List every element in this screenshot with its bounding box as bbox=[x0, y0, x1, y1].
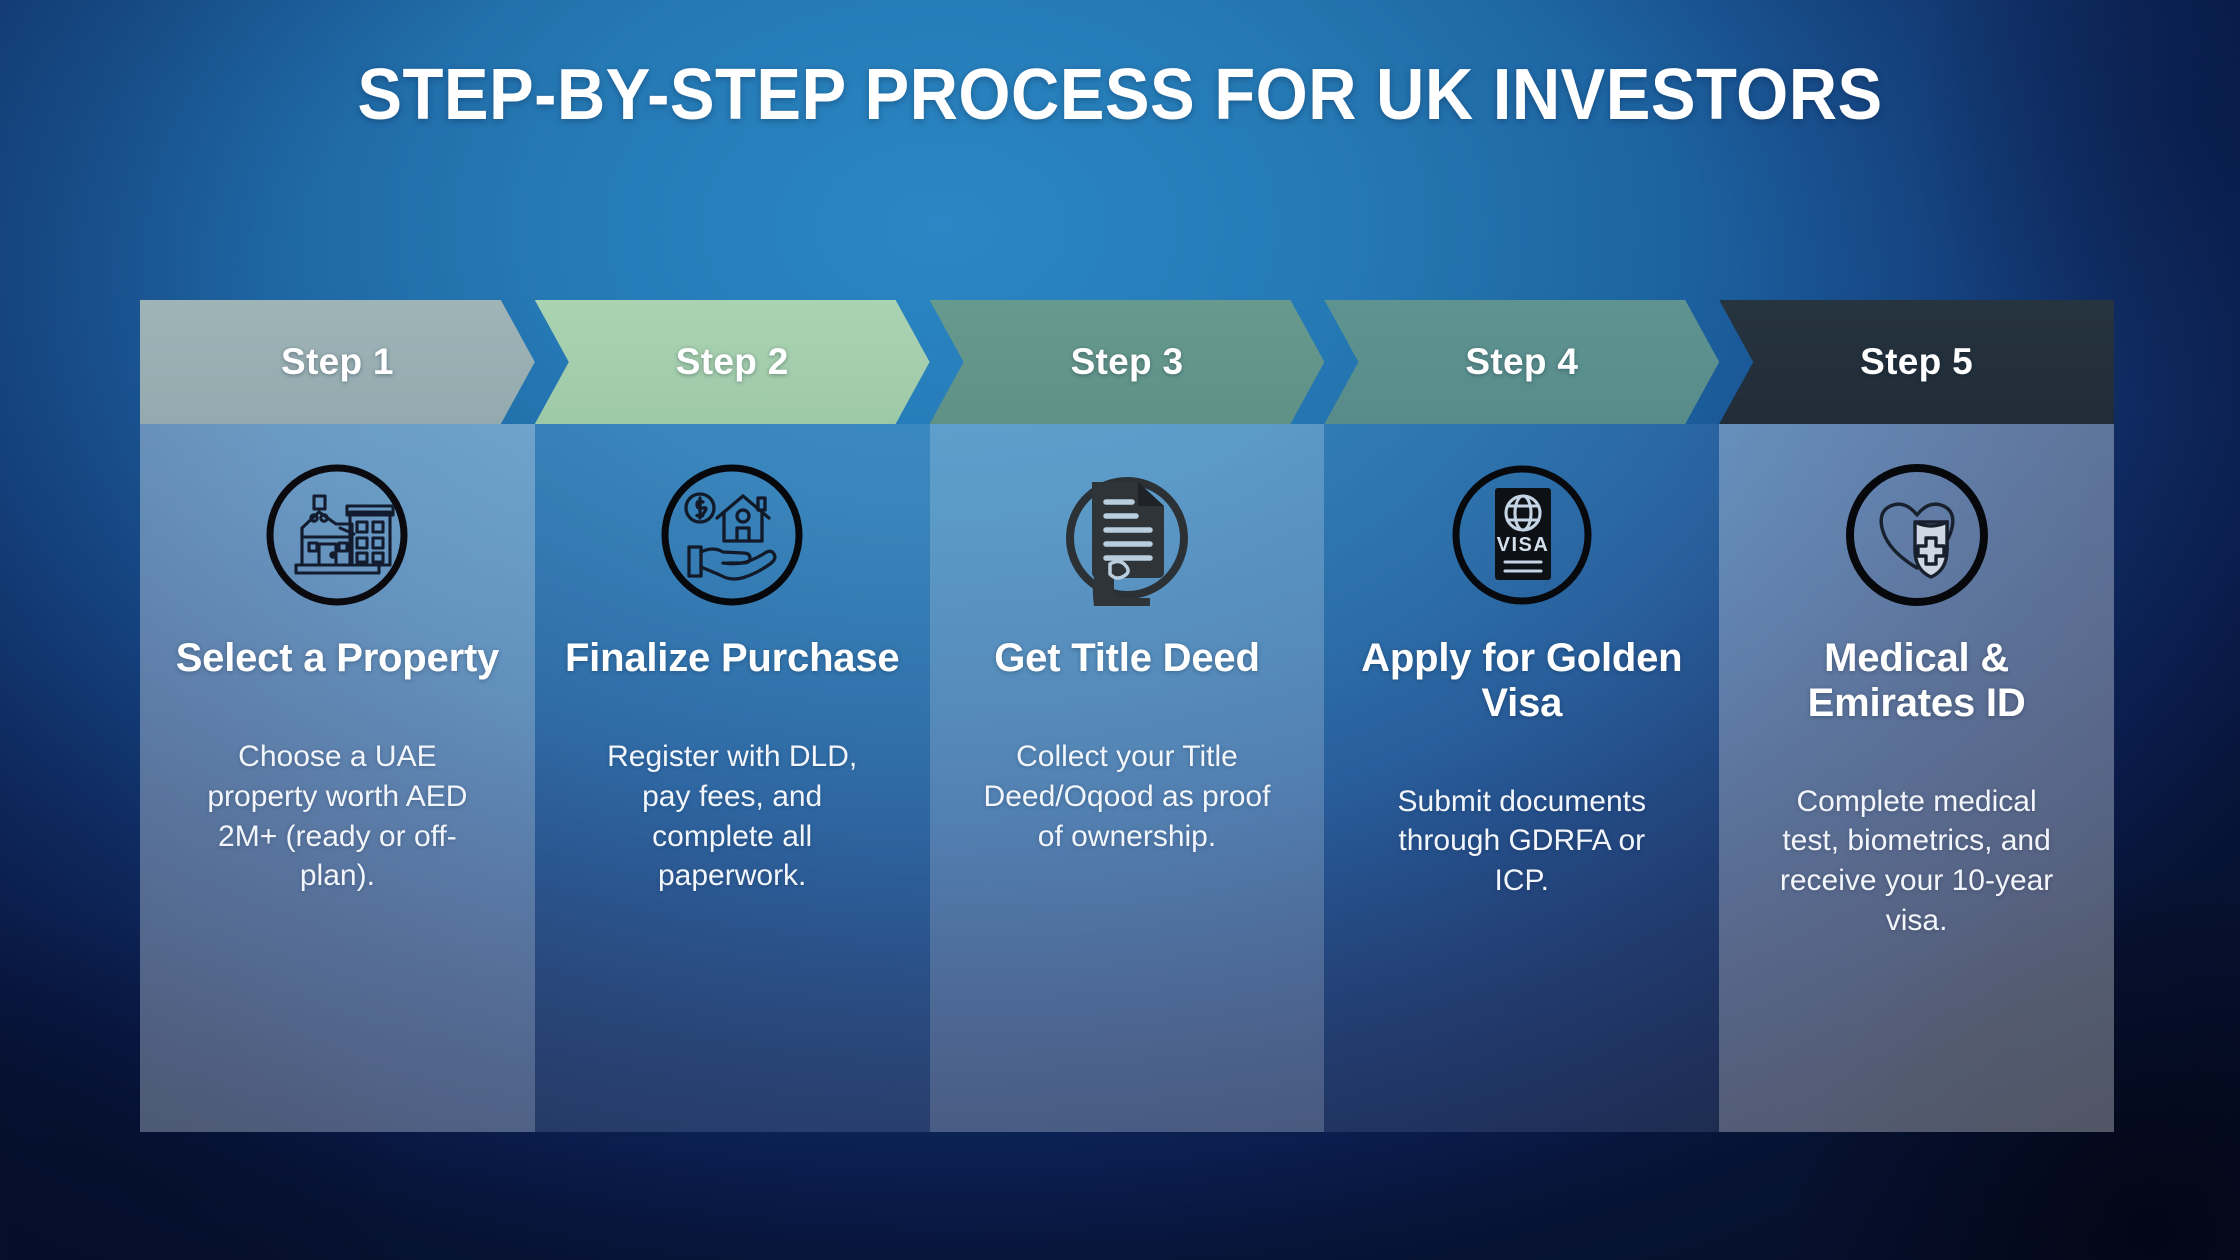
step-body-4: Submit documents through GDRFA or ICP. bbox=[1372, 782, 1672, 902]
hand-holding-house-money-icon bbox=[657, 460, 807, 610]
process-steps-board: Step 1 bbox=[140, 300, 2114, 1132]
step-panel-2: Finalize Purchase Register with DLD, pay… bbox=[535, 424, 930, 1132]
step-title-5: Medical & Emirates ID bbox=[1741, 636, 2092, 726]
step-panel-3: Get Title Deed Collect your Title Deed/O… bbox=[930, 424, 1325, 1132]
step-body-2: Register with DLD, pay fees, and complet… bbox=[582, 737, 882, 897]
step-panel-5: Medical & Emirates ID Complete medical t… bbox=[1719, 424, 2114, 1132]
step-badge-3: Step 3 bbox=[930, 300, 1325, 424]
step-badge-label: Step 1 bbox=[281, 341, 394, 383]
step-badge-label: Step 3 bbox=[1071, 341, 1184, 383]
step-badge-label: Step 2 bbox=[676, 341, 789, 383]
svg-text:VISA: VISA bbox=[1496, 534, 1549, 556]
step-badge-4: Step 4 bbox=[1324, 300, 1719, 424]
step-column-1[interactable]: Step 1 bbox=[140, 300, 535, 1132]
step-body-5: Complete medical test, biometrics, and r… bbox=[1767, 782, 2067, 942]
step-body-3: Collect your Title Deed/Oqood as proof o… bbox=[977, 737, 1277, 857]
step-title-3: Get Title Deed bbox=[994, 636, 1259, 681]
step-title-4: Apply for Golden Visa bbox=[1346, 636, 1697, 726]
step-panel-4: VISA Apply for Golden Visa Submit docume… bbox=[1324, 424, 1719, 1132]
heart-medical-shield-icon bbox=[1842, 460, 1992, 610]
step-panel-1: Select a Property Choose a UAE property … bbox=[140, 424, 535, 1132]
step-column-4[interactable]: Step 4 VISA bbox=[1324, 300, 1719, 1132]
step-title-1: Select a Property bbox=[176, 636, 499, 681]
step-body-1: Choose a UAE property worth AED 2M+ (rea… bbox=[187, 737, 487, 897]
step-badge-2: Step 2 bbox=[535, 300, 930, 424]
step-badge-1: Step 1 bbox=[140, 300, 535, 424]
hand-holding-document-icon bbox=[1052, 460, 1202, 610]
step-column-3[interactable]: Step 3 bbox=[930, 300, 1325, 1132]
step-badge-label: Step 5 bbox=[1860, 341, 1973, 383]
step-badge-label: Step 4 bbox=[1465, 341, 1578, 383]
visa-passport-globe-icon: VISA bbox=[1447, 460, 1597, 610]
buildings-property-icon bbox=[262, 460, 412, 610]
step-badge-5: Step 5 bbox=[1719, 300, 2114, 424]
page-title: STEP-BY-STEP PROCESS FOR UK INVESTORS bbox=[78, 58, 2161, 133]
step-column-2[interactable]: Step 2 bbox=[535, 300, 930, 1132]
step-column-5[interactable]: Step 5 Medical & Emirates ID Complete me… bbox=[1719, 300, 2114, 1132]
step-title-2: Finalize Purchase bbox=[565, 636, 900, 681]
